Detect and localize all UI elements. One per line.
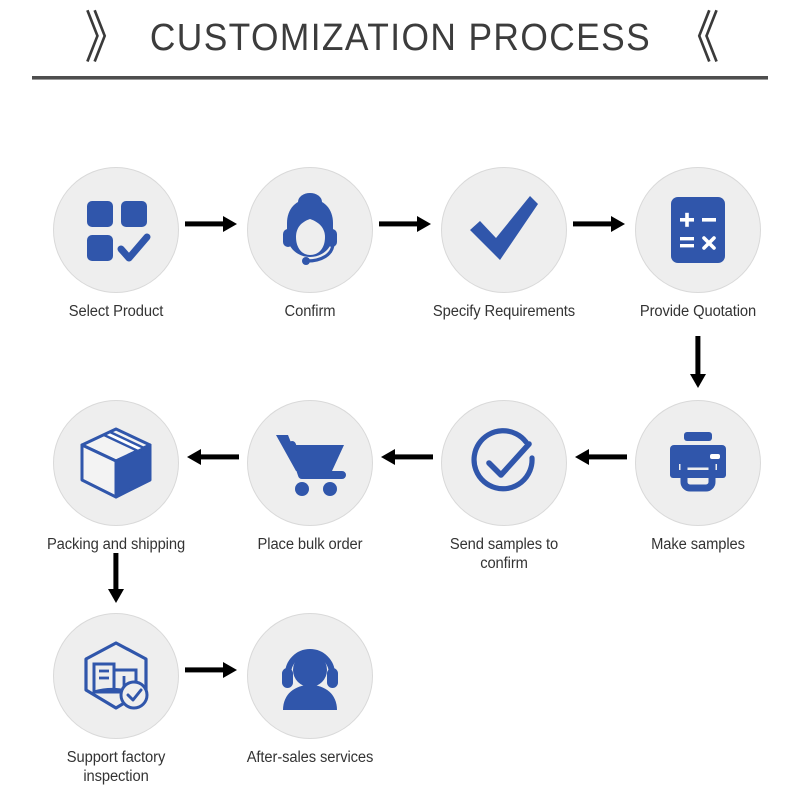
connector-arrow-down <box>687 336 709 390</box>
connector-arrow-right <box>379 213 433 235</box>
step-icon-bubble <box>53 167 179 293</box>
process-flow-diagram: Select Product <box>0 0 800 800</box>
step-label: Place bulk order <box>239 535 382 554</box>
step-label: Provide Quotation <box>627 302 770 321</box>
step-label: Support factory inspection <box>45 748 188 787</box>
step-specify-requirements[interactable]: Specify Requirements <box>429 167 579 321</box>
step-make-samples[interactable]: Make samples <box>623 400 773 554</box>
step-packing-shipping[interactable]: Packing and shipping <box>41 400 191 554</box>
support-agent-icon <box>271 191 349 269</box>
step-label: Send samples to confirm <box>433 535 576 574</box>
step-label: After-sales services <box>239 748 382 767</box>
printer-icon <box>662 427 734 499</box>
connector-arrow-left <box>573 446 627 468</box>
step-label: Make samples <box>627 535 770 554</box>
step-place-bulk-order[interactable]: Place bulk order <box>235 400 385 554</box>
step-provide-quotation[interactable]: Provide Quotation <box>623 167 773 321</box>
step-label: Confirm <box>239 302 382 321</box>
step-icon-bubble <box>247 167 373 293</box>
package-box-icon <box>78 425 154 501</box>
calculator-icon <box>663 195 733 265</box>
shopping-cart-icon <box>272 425 348 501</box>
circle-check-icon <box>464 423 544 503</box>
step-after-sales[interactable]: After-sales services <box>235 613 385 767</box>
step-label: Specify Requirements <box>433 302 576 321</box>
step-icon-bubble <box>53 613 179 739</box>
step-label: Select Product <box>45 302 188 321</box>
connector-arrow-right <box>185 659 239 681</box>
connector-arrow-right <box>573 213 627 235</box>
connector-arrow-right <box>185 213 239 235</box>
step-factory-inspection[interactable]: Support factory inspection <box>41 613 191 787</box>
step-label: Packing and shipping <box>45 535 188 554</box>
check-mark-icon <box>464 190 544 270</box>
grid-check-icon <box>79 193 153 267</box>
step-icon-bubble <box>247 400 373 526</box>
step-icon-bubble <box>441 400 567 526</box>
connector-arrow-left <box>185 446 239 468</box>
step-icon-bubble <box>53 400 179 526</box>
connector-arrow-down <box>105 553 127 605</box>
step-icon-bubble <box>635 167 761 293</box>
step-icon-bubble <box>441 167 567 293</box>
step-select-product[interactable]: Select Product <box>41 167 191 321</box>
connector-arrow-left <box>379 446 433 468</box>
factory-shield-check-icon <box>78 638 154 714</box>
step-icon-bubble <box>635 400 761 526</box>
step-confirm[interactable]: Confirm <box>235 167 385 321</box>
step-icon-bubble <box>247 613 373 739</box>
headset-person-icon <box>272 638 348 714</box>
step-send-samples[interactable]: Send samples to confirm <box>429 400 579 574</box>
